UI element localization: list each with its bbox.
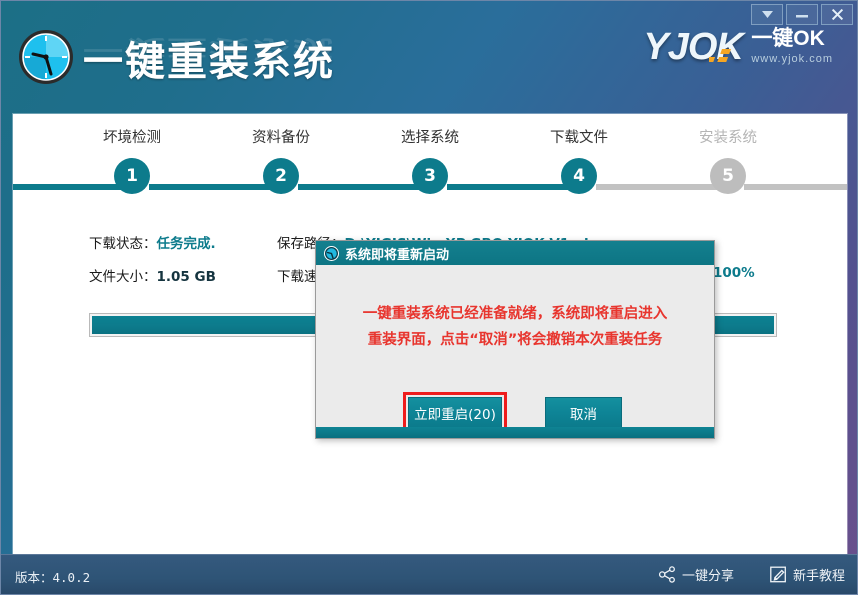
file-size-label: 文件大小： [89, 269, 157, 285]
file-size-value: 1.05 GB [157, 269, 216, 285]
step-number-5: 5 [710, 158, 746, 194]
step-number-3: 3 [412, 158, 448, 194]
window-titlebar [1, 1, 858, 27]
step-connector-2 [298, 184, 432, 190]
step-progress: 坏境检测 1 资料备份 2 选择系统 3 下载文件 4 安装系统 5 [13, 126, 847, 216]
window-controls [751, 4, 853, 25]
step-label-1: 坏境检测 [62, 126, 202, 147]
restart-dialog-message: 一键重装系统已经准备就绪，系统即将重启进入 重装界面，点击“取消”将会撤销本次重… [332, 301, 698, 353]
close-button[interactable] [821, 4, 853, 25]
step-connector-1 [149, 184, 282, 190]
restart-now-button[interactable]: 立即重启(20) [408, 397, 502, 429]
app-footer: 版本：4.0.2 一键分享 新手教程 [1, 554, 858, 594]
step-connector-3 [447, 184, 581, 190]
share-button[interactable]: 一键分享 [659, 565, 734, 584]
step-label-5: 安装系统 [658, 126, 798, 147]
restart-dialog-body: 一键重装系统已经准备就绪，系统即将重启进入 重装界面，点击“取消”将会撤销本次重… [316, 265, 714, 438]
download-percent-value: 100% [713, 265, 755, 281]
minimize-button[interactable] [786, 4, 818, 25]
restart-dialog-message-line1: 一键重装系统已经准备就绪，系统即将重启进入 [332, 301, 698, 327]
application-window: 一键重装系统 一键重装系统 YJOK 一键OK www.yjok.com [0, 0, 858, 595]
file-size-row: 文件大小：1.05 GB [89, 265, 216, 285]
minimize-icon [796, 11, 808, 19]
step-label-3: 选择系统 [360, 126, 500, 147]
step-number-1: 1 [114, 158, 150, 194]
restart-dialog: 系统即将重新启动 一键重装系统已经准备就绪，系统即将重启进入 重装界面，点击“取… [315, 240, 715, 439]
tutorial-button-label: 新手教程 [793, 565, 845, 584]
restore-down-button[interactable] [751, 4, 783, 25]
tutorial-button[interactable]: 新手教程 [770, 565, 845, 584]
share-icon [659, 566, 676, 583]
share-button-label: 一键分享 [682, 565, 734, 584]
step-connector-5 [744, 184, 847, 190]
brand-url-label: www.yjok.com [751, 53, 833, 65]
step-label-2: 资料备份 [211, 126, 351, 147]
step-number-2: 2 [263, 158, 299, 194]
step-label-4: 下载文件 [509, 126, 649, 147]
close-icon [832, 9, 843, 20]
step-number-4: 4 [561, 158, 597, 194]
brand-accent-dots-icon [709, 49, 737, 65]
version-label: 版本：4.0.2 [15, 567, 90, 586]
restart-dialog-titlebar: 系统即将重新启动 [316, 241, 714, 265]
step-connector-4 [596, 184, 730, 190]
edit-icon [770, 566, 787, 583]
page-title: 一键重装系统 [83, 29, 335, 87]
restart-dialog-message-line2: 重装界面，点击“取消”将会撤销本次重装任务 [332, 327, 698, 353]
brand-cn-label: 一键OK [751, 27, 833, 51]
download-status-value: 任务完成. [157, 236, 216, 252]
restart-dialog-footer-strip [316, 427, 714, 438]
clock-icon [324, 246, 339, 261]
restart-dialog-title: 系统即将重新启动 [345, 244, 449, 263]
cancel-button[interactable]: 取消 [545, 397, 622, 429]
caret-down-icon [762, 11, 773, 19]
brand-sub: 一键OK www.yjok.com [751, 27, 833, 65]
brand-logo: YJOK 一键OK www.yjok.com [643, 27, 833, 87]
download-status-label: 下载状态： [89, 236, 157, 252]
clock-icon [17, 28, 75, 86]
download-status-row: 下载状态：任务完成. [89, 232, 216, 252]
